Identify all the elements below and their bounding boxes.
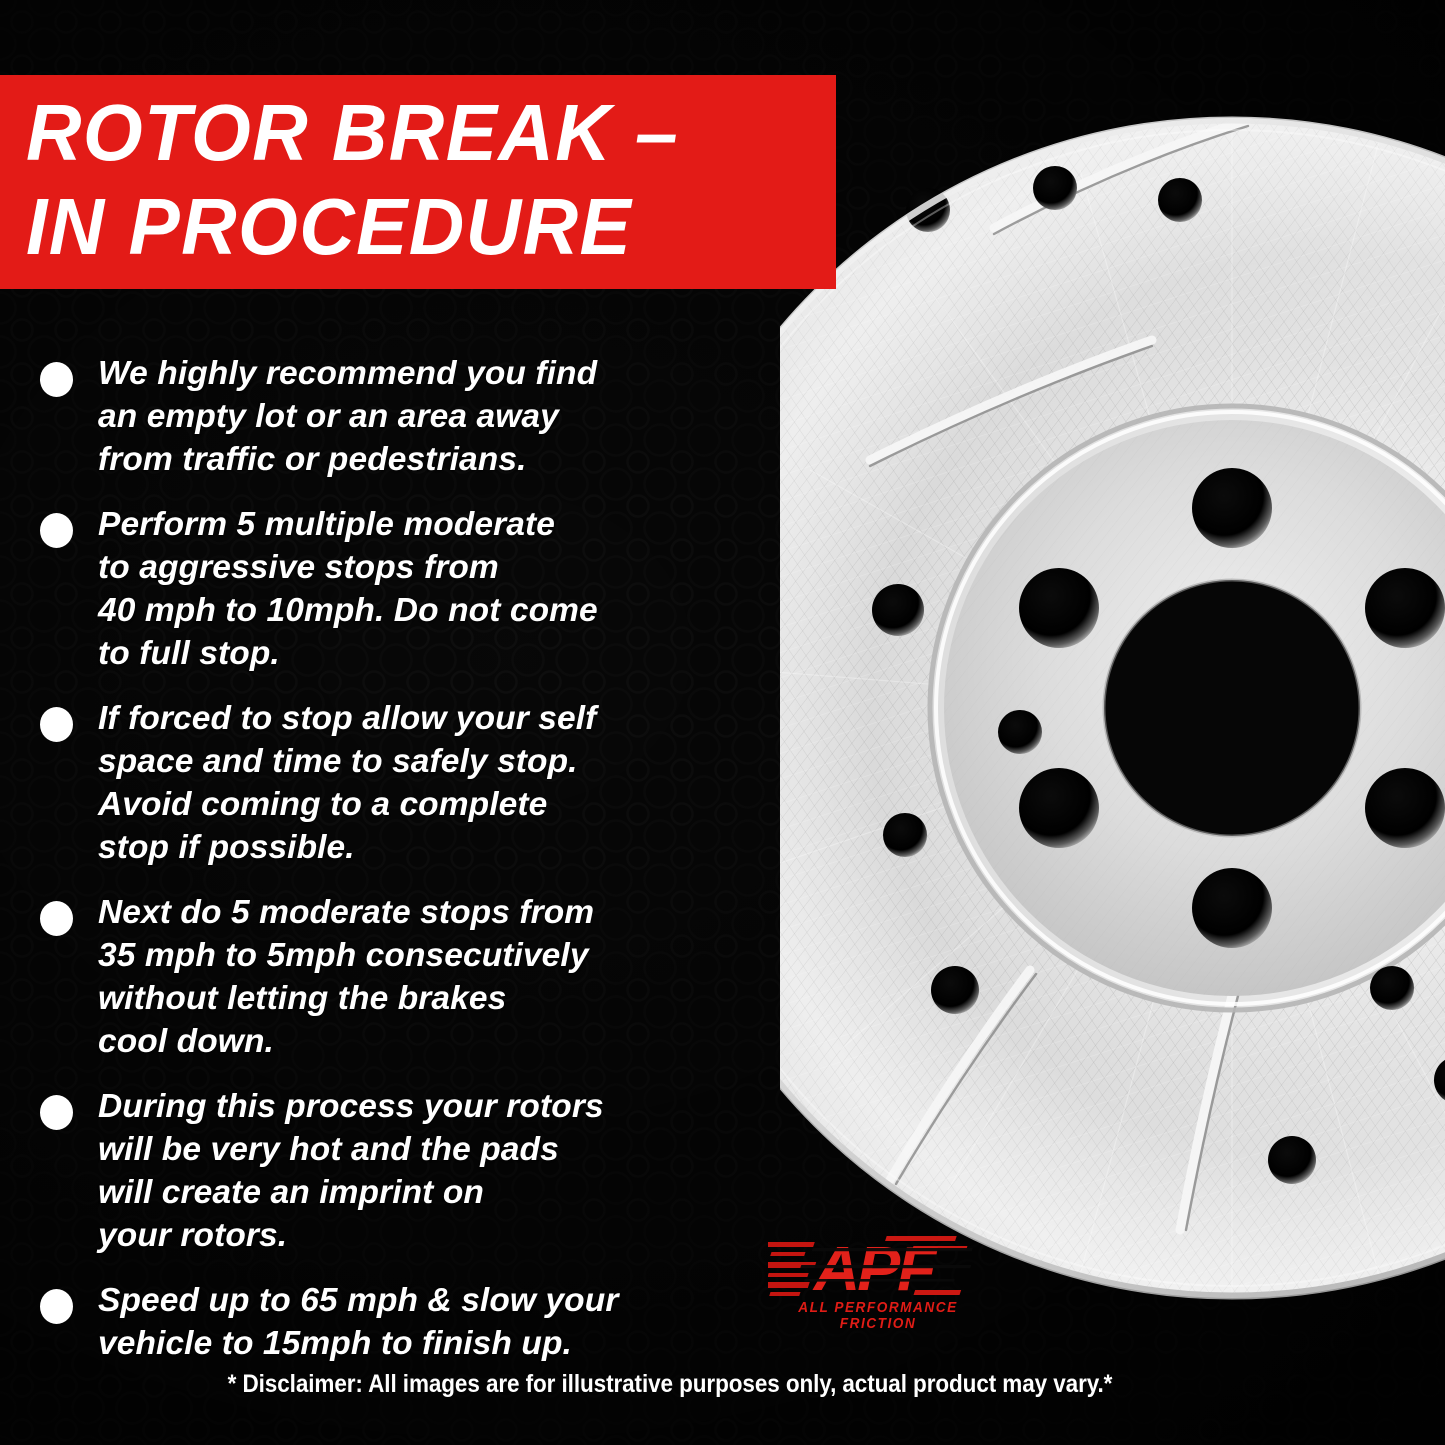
bullet-dot-icon [40, 513, 73, 548]
list-item-label: Perform 5 multiple moderate to aggressiv… [98, 503, 598, 675]
list-item-label: During this process your rotors will be … [98, 1085, 604, 1257]
list-item-label: Next do 5 moderate stops from 35 mph to … [98, 891, 594, 1063]
list-item: During this process your rotors will be … [40, 1085, 770, 1257]
speed-streak-icon [768, 1242, 816, 1296]
apf-logo-mark: APF [768, 1232, 988, 1304]
bullet-dot-icon [40, 707, 73, 742]
instructions-list: We highly recommend you find an empty lo… [40, 352, 770, 1387]
brake-rotor-image [780, 0, 1445, 1445]
title-banner: ROTOR BREAK – IN PROCEDURE [0, 75, 836, 289]
list-item: We highly recommend you find an empty lo… [40, 352, 770, 481]
apf-logo-tagline: ALL PERFORMANCE FRICTION [775, 1300, 982, 1332]
list-item: Perform 5 multiple moderate to aggressiv… [40, 503, 770, 675]
brake-rotor-svg [780, 0, 1445, 1445]
bullet-dot-icon [40, 901, 73, 936]
list-item-label: Speed up to 65 mph & slow your vehicle t… [98, 1279, 618, 1365]
list-item: Speed up to 65 mph & slow your vehicle t… [40, 1279, 770, 1365]
title-line-2: IN PROCEDURE [26, 180, 804, 274]
list-item-label: We highly recommend you find an empty lo… [98, 352, 597, 481]
disclaimer-text: * Disclaimer: All images are for illustr… [67, 1368, 1273, 1400]
rotor-break-in-infographic: ROTOR BREAK – IN PROCEDURE We highly rec… [0, 0, 1445, 1445]
apf-logo: APF ALL PERFORMANCE FRICTION [768, 1232, 988, 1332]
list-item: Next do 5 moderate stops from 35 mph to … [40, 891, 770, 1063]
list-item: If forced to stop allow your self space … [40, 697, 770, 869]
apf-wordmark: APF [812, 1235, 938, 1304]
title-line-1: ROTOR BREAK – [26, 86, 804, 180]
bullet-dot-icon [40, 362, 73, 397]
list-item-label: If forced to stop allow your self space … [98, 697, 596, 869]
bullet-dot-icon [40, 1289, 73, 1324]
bullet-dot-icon [40, 1095, 73, 1130]
